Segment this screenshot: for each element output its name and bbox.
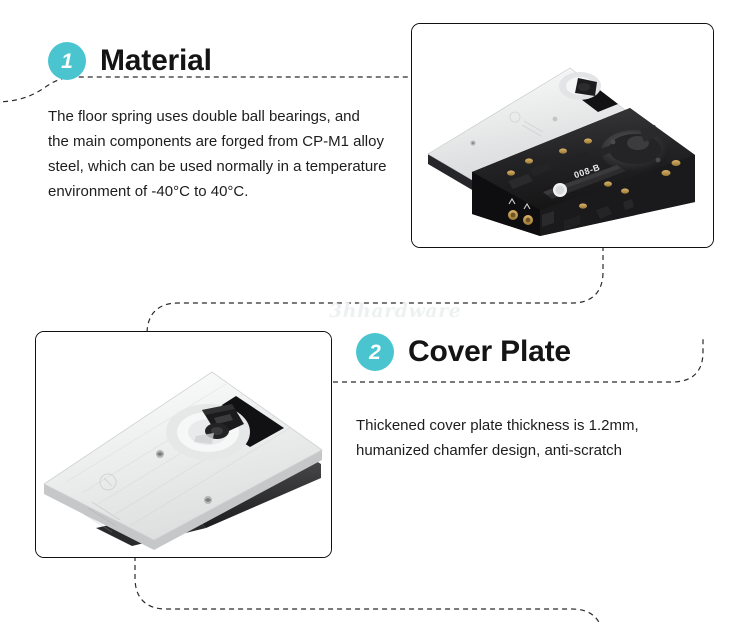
- watermark: 3hhardware: [329, 300, 461, 322]
- section-1-header: 1 Material: [48, 42, 408, 80]
- section-1-badge: 1: [48, 42, 86, 80]
- section-2-body-line: Thickened cover plate thickness is 1.2mm…: [356, 413, 706, 438]
- section-1-title: Material: [100, 46, 212, 76]
- connector-photo2-to-next: [135, 556, 603, 622]
- section-1-body: The floor spring uses double ball bearin…: [48, 104, 408, 204]
- cover-plate-closeup-image: [36, 332, 331, 557]
- photo-card-cover-plate: [35, 331, 332, 558]
- photo-card-floor-spring: 008-B: [411, 23, 714, 248]
- section-1-body-line: the main components are forged from CP-M…: [48, 129, 408, 154]
- section-1-body-line: environment of -40°C to 40°C.: [48, 179, 408, 204]
- section-2-body: Thickened cover plate thickness is 1.2mm…: [356, 413, 706, 463]
- section-2-title: Cover Plate: [408, 337, 571, 367]
- section-2-header: 2 Cover Plate: [356, 333, 706, 371]
- infographic-stage: 3hhardware 1 Material The floor spring u…: [0, 0, 750, 622]
- section-1-body-line: The floor spring uses double ball bearin…: [48, 104, 408, 129]
- section-1-body-line: steel, which can be used normally in a t…: [48, 154, 408, 179]
- section-cover-plate: 2 Cover Plate Thickened cover plate thic…: [356, 333, 706, 463]
- floor-spring-exploded-image: 008-B: [412, 24, 713, 247]
- section-2-badge: 2: [356, 333, 394, 371]
- section-material: 1 Material The floor spring uses double …: [48, 42, 408, 204]
- section-2-body-line: humanized chamfer design, anti-scratch: [356, 438, 706, 463]
